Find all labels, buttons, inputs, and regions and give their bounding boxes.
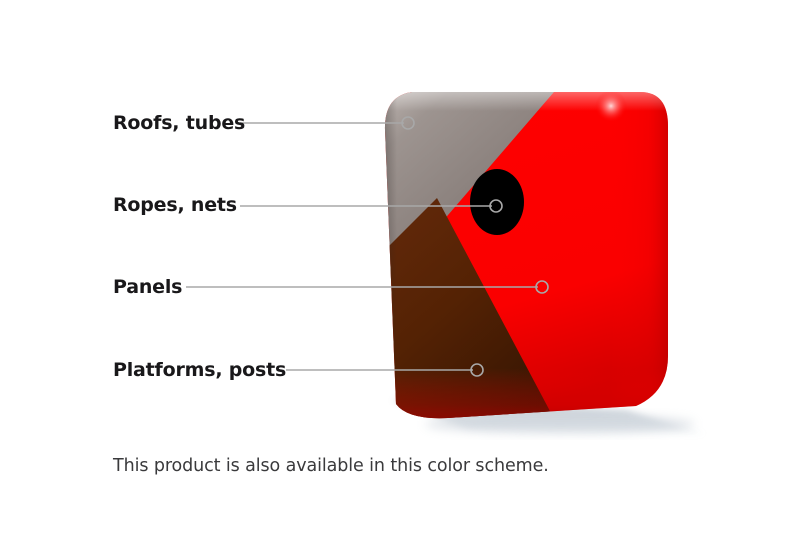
callout-label-ropes-nets: Ropes, nets	[113, 196, 237, 215]
callout-label-platforms-posts: Platforms, posts	[113, 361, 286, 380]
top-bevel-highlight	[375, 85, 680, 111]
left-edge-shading	[375, 85, 397, 430]
product-color-scheme-diagram: Roofs, tubes Ropes, nets Panels Platform…	[0, 0, 800, 533]
diagram-canvas	[0, 0, 800, 533]
caption-text: This product is also available in this c…	[113, 456, 549, 477]
callout-label-roofs-tubes: Roofs, tubes	[113, 114, 245, 133]
callout-label-panels: Panels	[113, 278, 182, 297]
specular-highlight	[595, 90, 627, 122]
product-body	[375, 85, 680, 430]
product-black-ellipse	[470, 169, 524, 235]
